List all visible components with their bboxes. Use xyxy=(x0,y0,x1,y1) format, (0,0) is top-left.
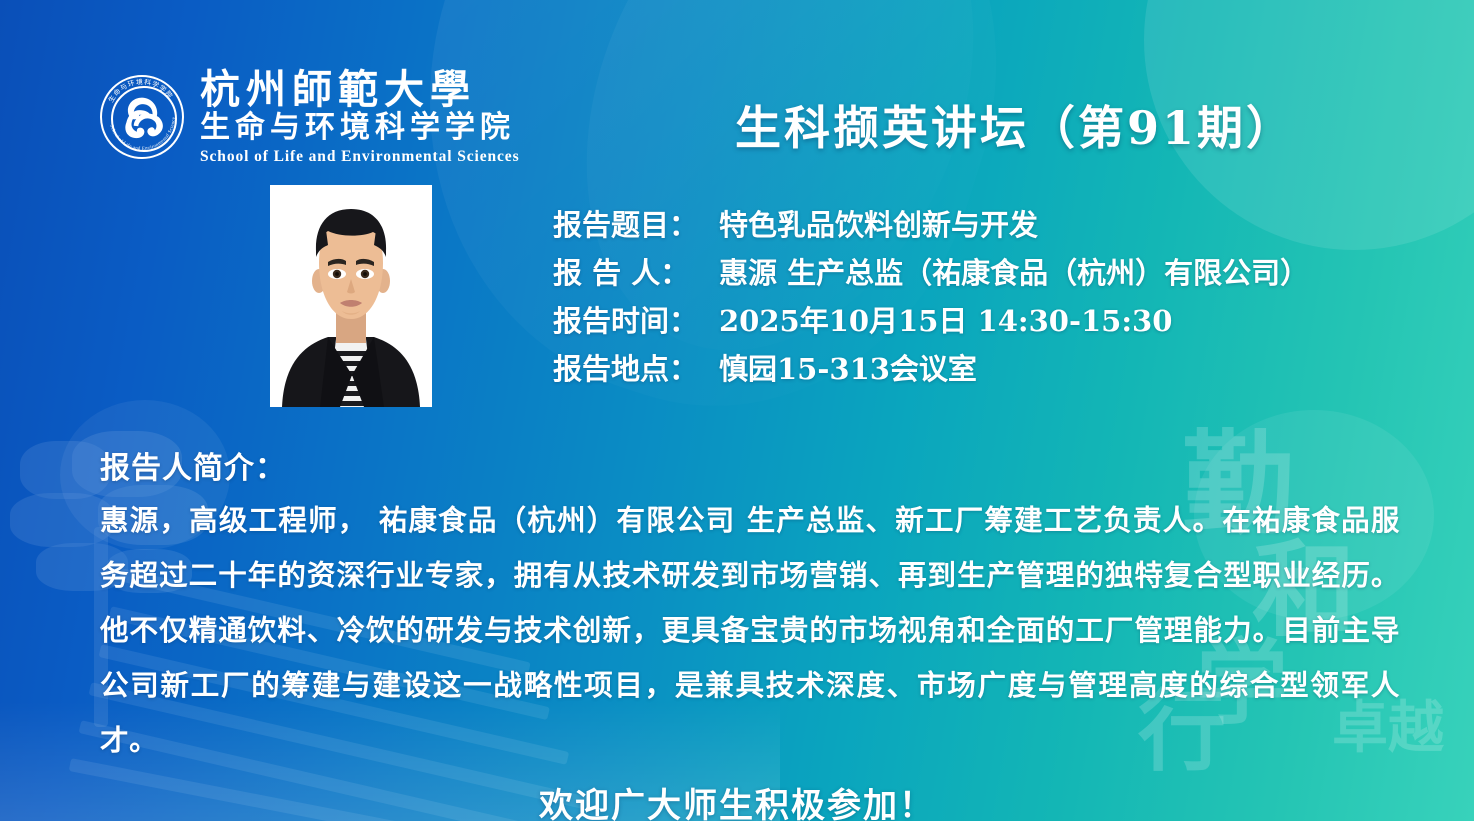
info-row-location: 报告地点： 慎园15-313会议室 xyxy=(553,348,1309,391)
university-logo: 生命与环境科学学院 School of Life and Environment… xyxy=(100,68,520,166)
info-value-topic: 特色乳品饮料创新与开发 xyxy=(719,204,1038,247)
info-label-time: 报告时间： xyxy=(553,300,719,343)
footer-note: 欢迎广大师生积极参加！ xyxy=(0,778,1474,821)
logo-wordmark: 杭州師範大學 生命与环境科学学院 School of Life and Envi… xyxy=(200,68,520,166)
university-name: 杭州師範大學 xyxy=(200,68,520,111)
svg-text:生命与环境科学学院: 生命与环境科学学院 xyxy=(106,77,175,104)
info-label-topic: 报告题目： xyxy=(553,204,719,247)
college-english-name: School of Life and Environmental Science… xyxy=(200,148,520,166)
page-title: 生科撷英讲坛（第91期） xyxy=(735,92,1295,158)
info-value-speaker: 惠源 生产总监（祐康食品（杭州）有限公司） xyxy=(719,252,1309,295)
info-row-topic: 报告题目： 特色乳品饮料创新与开发 xyxy=(553,204,1309,247)
college-seal-icon: 生命与环境科学学院 School of Life and Environment… xyxy=(100,75,184,159)
bio-heading: 报告人简介： xyxy=(100,443,286,487)
info-row-speaker: 报 告 人： 惠源 生产总监（祐康食品（杭州）有限公司） xyxy=(553,252,1309,295)
info-label-speaker: 报 告 人： xyxy=(553,252,719,295)
seminar-info-list: 报告题目： 特色乳品饮料创新与开发 报 告 人： 惠源 生产总监（祐康食品（杭州… xyxy=(553,204,1309,391)
info-value-location: 慎园15-313会议室 xyxy=(719,348,977,391)
college-name: 生命与环境科学学院 xyxy=(200,111,520,146)
info-value-time: 2025年10月15日 14:30-15:30 xyxy=(719,300,1172,343)
info-row-time: 报告时间： 2025年10月15日 14:30-15:30 xyxy=(553,300,1309,343)
bio-text: 惠源，高级工程师， 祐康食品（杭州）有限公司 生产总监、新工厂筹建工艺负责人。在… xyxy=(100,493,1400,768)
speaker-photo xyxy=(270,185,432,407)
info-label-location: 报告地点： xyxy=(553,348,719,391)
seminar-poster: 勤 和 学 行 卓越 生命与环境科学学院 xyxy=(0,0,1474,821)
